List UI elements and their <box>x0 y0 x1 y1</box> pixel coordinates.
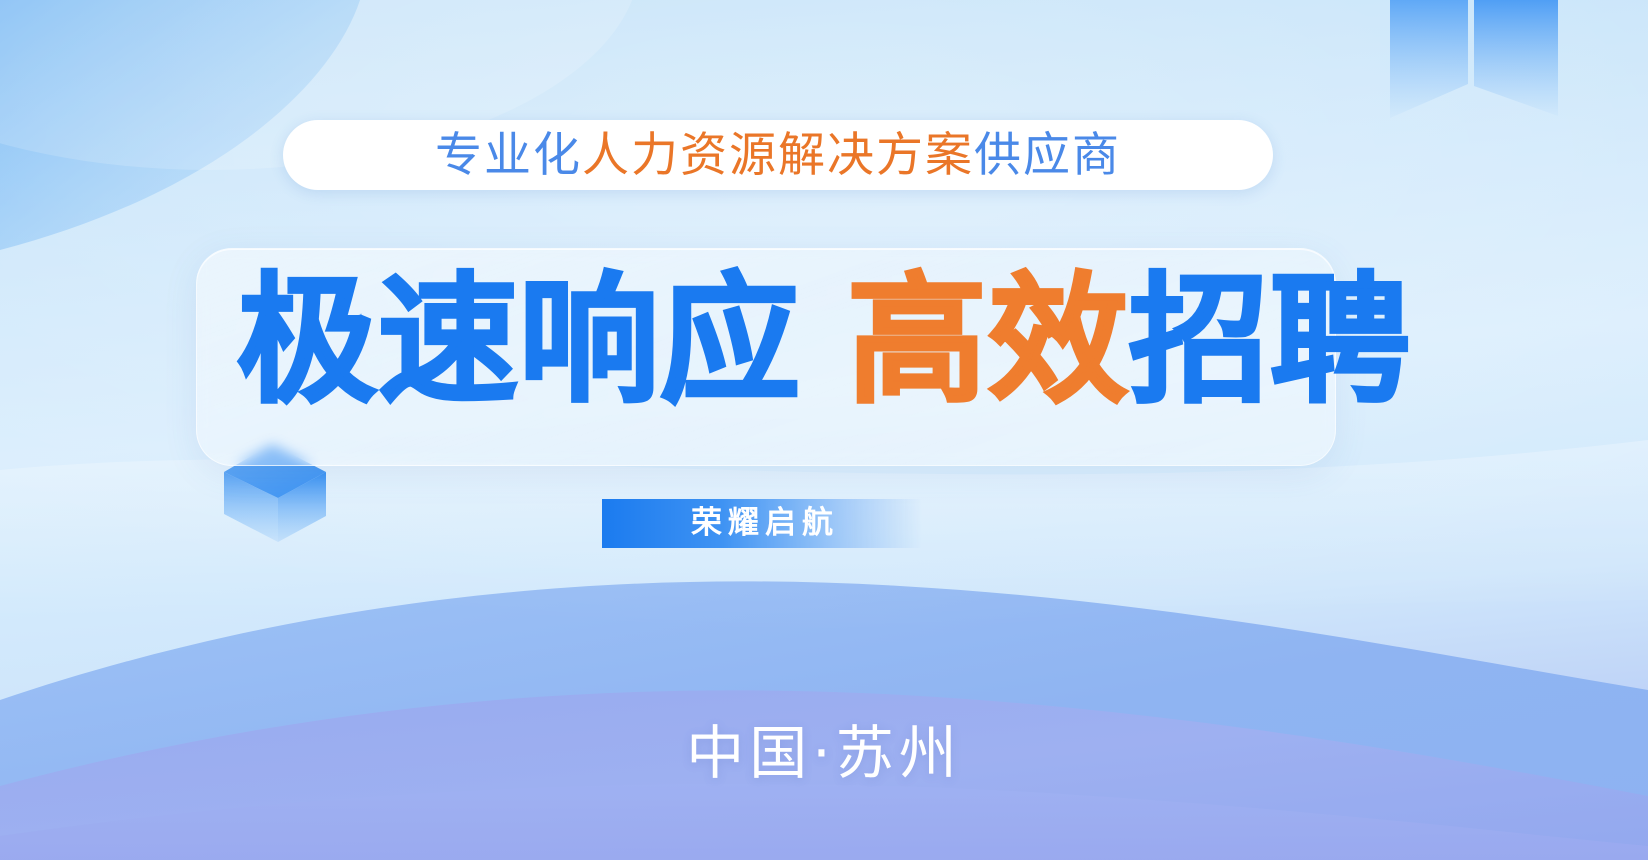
headline-segment-1: 极速响应 <box>237 260 801 423</box>
promo-banner: 专业化人力资源解决方案供应商 极速响应高效招聘 荣耀启航 中国·苏州 <box>0 0 1648 860</box>
tagline-segment-2: 人力资源解决方案 <box>582 128 974 183</box>
tagline-pill: 专业化人力资源解决方案供应商 <box>283 120 1273 190</box>
tagline-segment-3: 供应商 <box>974 128 1121 183</box>
headline-segment-2: 高效 <box>847 260 1129 423</box>
ribbon-badge: 荣耀启航 <box>602 499 922 548</box>
location-label: 中国·苏州 <box>0 724 1648 782</box>
3d-cube-icon-top-right <box>1368 0 1618 166</box>
tagline-text: 专业化人力资源解决方案供应商 <box>435 132 1121 179</box>
headline-segment-3: 招聘 <box>1129 260 1411 423</box>
headline: 极速响应高效招聘 <box>0 272 1648 412</box>
tagline-segment-1: 专业化 <box>435 128 582 183</box>
ribbon-badge-label: 荣耀启航 <box>685 508 839 539</box>
